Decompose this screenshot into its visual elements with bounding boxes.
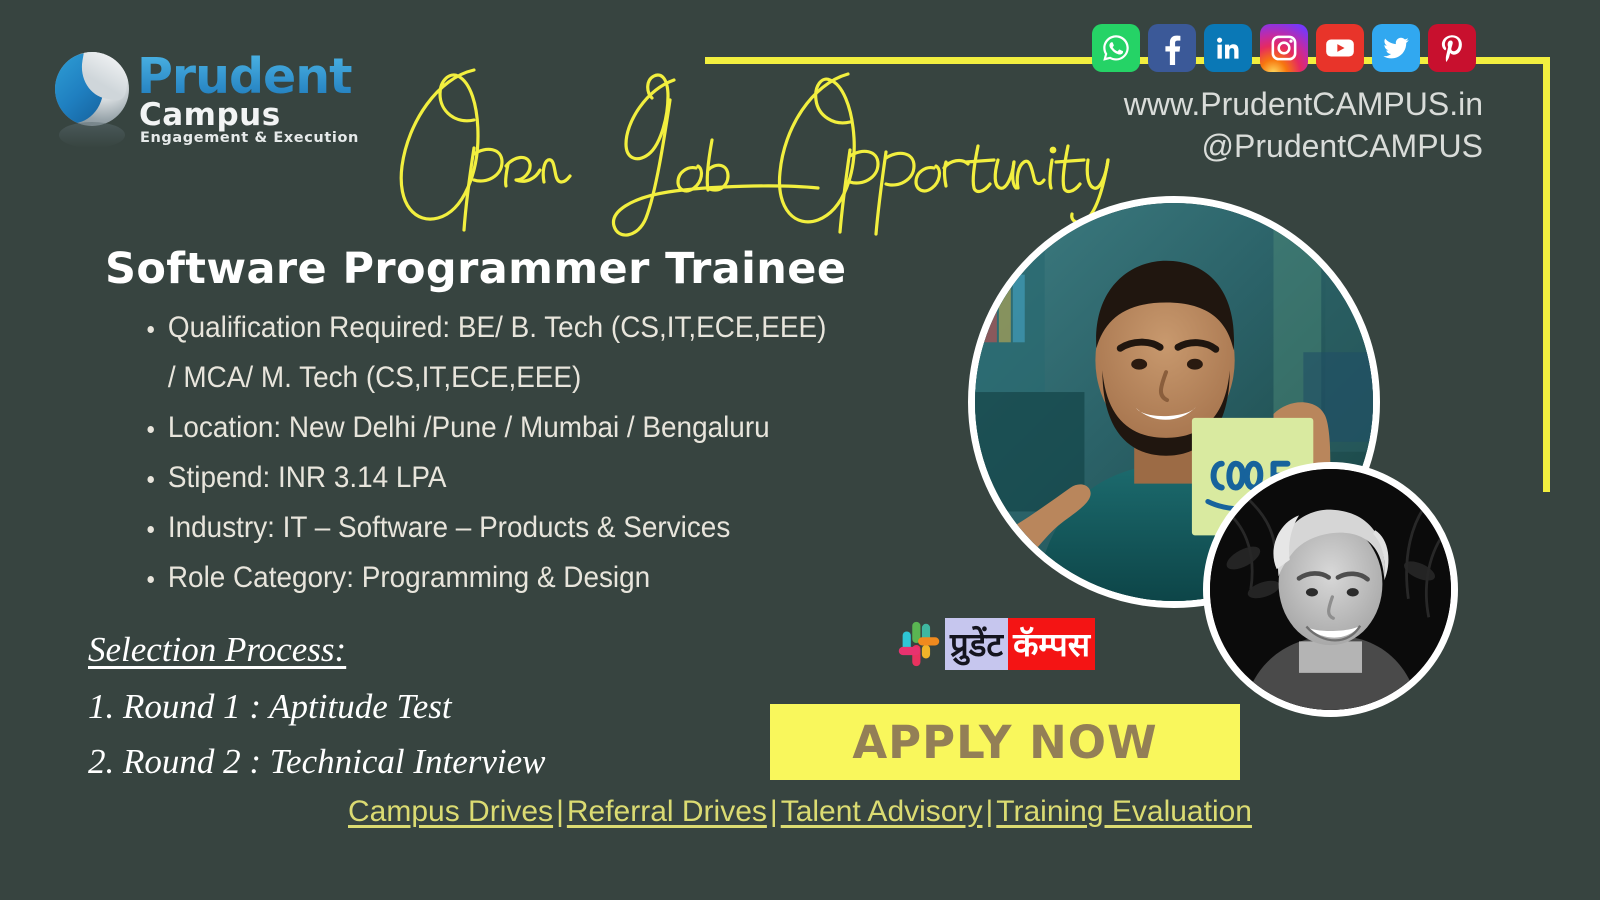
hindi-word-campus: कॅम्पस bbox=[1008, 618, 1095, 670]
website-url[interactable]: www.PrudentCAMPUS.in bbox=[1124, 86, 1483, 123]
footer-link-referral-drives[interactable]: Referral Drives bbox=[567, 795, 767, 828]
poster-canvas: Prudent Campus Engagement & Execution ww… bbox=[0, 0, 1600, 900]
brand-logo: Prudent Campus Engagement & Execution bbox=[55, 48, 365, 158]
footer-separator: | bbox=[982, 795, 996, 828]
slack-style-icon bbox=[893, 618, 945, 670]
social-links bbox=[1092, 24, 1476, 72]
list-item-line-wrapped: / MCA/ M. Tech (CS,IT,ECE,EEE) bbox=[168, 353, 903, 403]
linkedin-icon[interactable] bbox=[1204, 24, 1252, 72]
footer-link-training-evaluation[interactable]: Training Evaluation bbox=[996, 795, 1252, 828]
list-item-line: Industry: IT – Software – Products & Ser… bbox=[168, 503, 903, 553]
facebook-icon[interactable] bbox=[1148, 24, 1196, 72]
youtube-icon[interactable] bbox=[1316, 24, 1364, 72]
apply-now-button[interactable]: APPLY NOW bbox=[770, 704, 1240, 780]
footer-services: Campus Drives|Referral Drives|Talent Adv… bbox=[0, 795, 1600, 829]
list-item: Stipend: INR 3.14 LPA bbox=[140, 453, 903, 503]
selection-round-1: 1. Round 1 : Aptitude Test bbox=[88, 679, 546, 734]
instagram-icon[interactable] bbox=[1260, 24, 1308, 72]
pinterest-icon[interactable] bbox=[1428, 24, 1476, 72]
list-item-line: Qualification Required: BE/ B. Tech (CS,… bbox=[168, 303, 903, 353]
apply-now-label: APPLY NOW bbox=[852, 716, 1157, 769]
list-item-line: Location: New Delhi /Pune / Mumbai / Ben… bbox=[168, 403, 903, 453]
list-item-line: Role Category: Programming & Design bbox=[168, 553, 903, 603]
photo-secondary-portrait bbox=[1203, 462, 1458, 717]
social-handle[interactable]: @PrudentCAMPUS bbox=[1202, 128, 1483, 165]
page-title: Software Programmer Trainee bbox=[105, 244, 846, 294]
hindi-word-prudent: प्रुडेंट bbox=[945, 618, 1008, 670]
footer-link-talent-advisory[interactable]: Talent Advisory bbox=[781, 795, 983, 828]
list-item: Industry: IT – Software – Products & Ser… bbox=[140, 503, 903, 553]
twitter-icon[interactable] bbox=[1372, 24, 1420, 72]
logo-reflection bbox=[59, 122, 125, 148]
list-item-line: Stipend: INR 3.14 LPA bbox=[168, 453, 903, 503]
logo-secondary-text: Campus bbox=[139, 97, 281, 133]
footer-separator: | bbox=[767, 795, 781, 828]
prudent-sphere-icon bbox=[55, 52, 129, 126]
job-details-list: Qualification Required: BE/ B. Tech (CS,… bbox=[140, 303, 960, 603]
selection-round-2: 2. Round 2 : Technical Interview bbox=[88, 734, 546, 789]
selection-process-block: Selection Process: 1. Round 1 : Aptitude… bbox=[88, 630, 546, 789]
headline-script bbox=[378, 62, 1118, 232]
footer-link-campus-drives[interactable]: Campus Drives bbox=[348, 795, 553, 828]
selection-process-heading: Selection Process: bbox=[88, 630, 546, 670]
list-item: Location: New Delhi /Pune / Mumbai / Ben… bbox=[140, 403, 903, 453]
list-item: Qualification Required: BE/ B. Tech (CS,… bbox=[140, 303, 903, 403]
hindi-brand-logo: प्रुडेंट कॅम्पस bbox=[893, 618, 1095, 670]
list-item: Role Category: Programming & Design bbox=[140, 553, 903, 603]
yellow-frame-vertical bbox=[1543, 57, 1550, 492]
logo-tagline: Engagement & Execution bbox=[140, 130, 359, 146]
footer-separator: | bbox=[553, 795, 567, 828]
